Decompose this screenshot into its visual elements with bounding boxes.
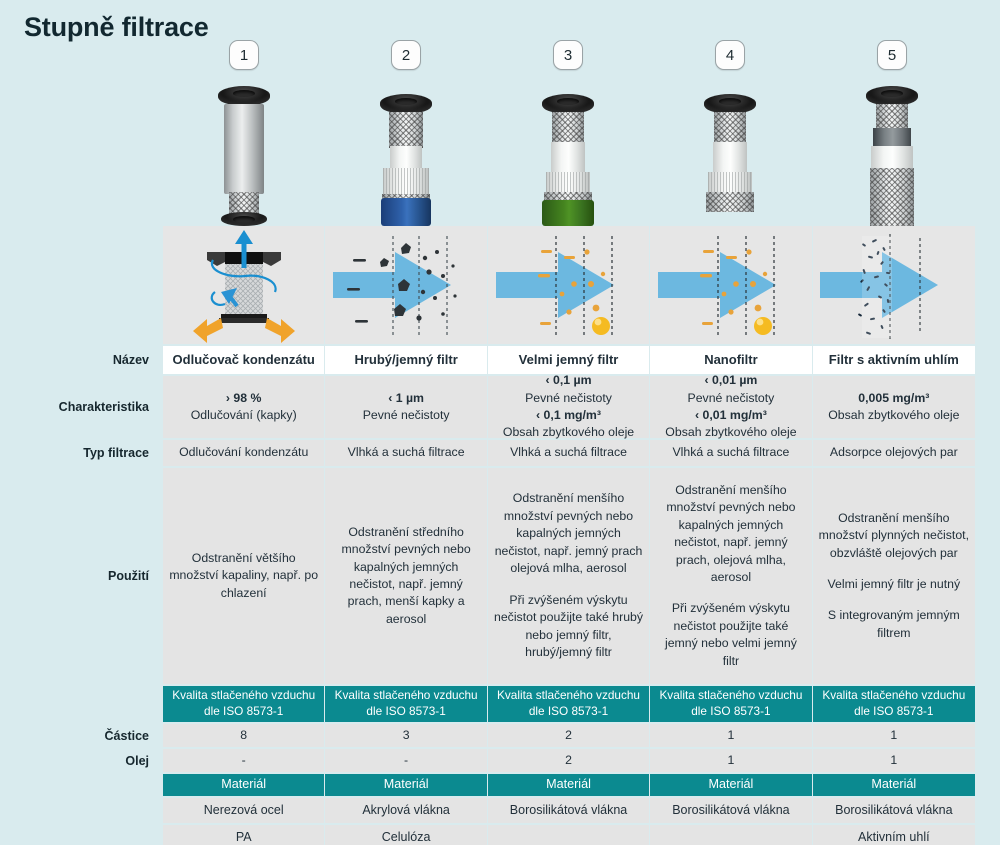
illustration-row-label [0,226,163,344]
name-cell-5: Filtr s aktivním uhlím [813,346,975,374]
usage-paragraph: Při zvýšeném výskytu nečistot použijte t… [656,600,805,670]
material-header-row-label [0,774,163,796]
element-base-3 [542,200,594,226]
material-header-cell-1: Materiál [163,774,324,796]
char-line: ‹ 1 µm [388,390,424,407]
condensate-separator-diagram [163,226,324,344]
row-label-name: Název [0,346,163,374]
illustration-row [0,226,1000,344]
usage-paragraph: Odstranění menšího množství plynných neč… [819,510,969,562]
material-cell-1-1: Nerezová ocel [163,798,324,823]
material-header-cell-4: Materiál [650,774,811,796]
filter-element-1: 1 [163,36,325,226]
row-label-oil: Olej [0,749,163,772]
coarse-fine-filter-diagram [325,226,486,344]
iso-header-cell-2: Kvalita stlačeného vzduchu dle ISO 8573-… [325,686,486,722]
characteristic-cell-4: ‹ 0,01 µm Pevné nečistoty ‹ 0,01 mg/m³ O… [650,376,811,438]
char-line: ‹ 0,01 µm [704,372,757,389]
element-drawing-3 [531,78,605,226]
iso-line-2: dle ISO 8573-1 [366,704,445,720]
very-fine-filter-diagram [488,226,649,344]
material-cell-2-1: Akrylová vlákna [325,798,486,823]
name-row: Název Odlučovač kondenzátu Hrubý/jemný f… [0,346,1000,374]
char-line: Pevné nečistoty [363,407,450,424]
material-cell-3-1: Borosilikátová vlákna [488,798,649,823]
oil-cell-4: 1 [650,749,811,772]
usage-cell-3: Odstranění menšího množství pevných nebo… [488,468,649,684]
char-line: ‹ 0,1 µm [545,372,591,389]
name-cell-3: Velmi jemný filtr [488,346,649,374]
iso-line-1: Kvalita stlačeného vzduchu [659,688,802,704]
material-row-2: PA Celulóza Aktivním uhlí [0,825,1000,845]
material-row-1: Nerezová ocel Akrylová vlákna Borosiliká… [0,798,1000,823]
iso-line-2: dle ISO 8573-1 [529,704,608,720]
filter-element-5: 5 [811,36,973,226]
char-line: Obsah zbytkového oleje [828,407,959,424]
row-label-characteristic: Charakteristika [0,376,163,438]
particles-row: Částice 8 3 2 1 1 [0,724,1000,747]
filter-type-cell-4: Vlhká a suchá filtrace [650,440,811,466]
material-row-2-label [0,825,163,845]
iso-line-1: Kvalita stlačeného vzduchu [335,688,478,704]
material-row-1-label [0,798,163,823]
oil-cell-3: 2 [488,749,649,772]
filter-type-cell-3: Vlhká a suchá filtrace [488,440,649,466]
material-cell-2-2: Celulóza [325,825,486,845]
usage-paragraph: S integrovaným jemným filtrem [819,607,969,642]
badge-number-4: 4 [715,40,745,70]
element-base-4 [704,200,756,226]
filter-type-row: Typ filtrace Odlučování kondenzátu Vlhká… [0,440,1000,466]
filter-element-3: 3 [487,36,649,226]
usage-paragraph: Velmi jemný filtr je nutný [828,576,961,593]
nanofilter-diagram [650,226,811,344]
filter-type-cell-1: Odlučování kondenzátu [163,440,324,466]
filter-element-4: 4 [649,36,811,226]
particles-cell-4: 1 [650,724,811,747]
row-label-particles: Částice [0,724,163,747]
iso-line-1: Kvalita stlačeného vzduchu [822,688,965,704]
material-cell-3-2 [488,825,649,845]
oil-row: Olej - - 2 1 1 [0,749,1000,772]
char-line: Odlučování (kapky) [191,407,297,424]
badge-number-5: 5 [877,40,907,70]
element-drawing-5 [855,78,929,226]
material-cell-5-1: Borosilikátová vlákna [813,798,975,823]
filter-type-cell-2: Vlhká a suchá filtrace [325,440,486,466]
usage-cell-1: Odstranění většího množství kapaliny, na… [163,468,324,684]
characteristic-row: Charakteristika › 98 % Odlučování (kapky… [0,376,1000,438]
usage-paragraph: Odstranění menšího množství pevných nebo… [494,490,643,577]
particles-cell-1: 8 [163,724,324,747]
filter-type-cell-5: Adsorpce olejových par [813,440,975,466]
usage-paragraph: Odstranění menšího množství pevných nebo… [656,482,805,587]
filter-element-photo-strip: 1 2 3 [163,36,975,226]
filtration-stages-infographic: Stupně filtrace 1 2 [0,0,1000,845]
element-drawing-1 [207,78,281,226]
badge-number-2: 2 [391,40,421,70]
char-line: › 98 % [226,390,262,407]
element-drawing-4 [693,78,767,226]
badge-number-3: 3 [553,40,583,70]
comparison-table: Název Odlučovač kondenzátu Hrubý/jemný f… [0,226,1000,845]
material-header-cell-3: Materiál [488,774,649,796]
oil-cell-5: 1 [813,749,975,772]
name-cell-4: Nanofiltr [650,346,811,374]
name-cell-1: Odlučovač kondenzátu [163,346,324,374]
material-header-cell-5: Materiál [813,774,975,796]
char-line: Pevné nečistoty [688,390,775,407]
usage-paragraph: Při zvýšeném výskytu nečistot použijte t… [494,592,643,662]
usage-cell-5: Odstranění menšího množství plynných neč… [813,468,975,684]
usage-paragraph: Odstranění středního množství pevných ne… [331,524,480,629]
element-drawing-2 [369,78,443,226]
element-base-2 [381,198,431,226]
particles-cell-2: 3 [325,724,486,747]
characteristic-cell-1: › 98 % Odlučování (kapky) [163,376,324,438]
iso-header-row-label [0,686,163,722]
badge-number-1: 1 [229,40,259,70]
particles-cell-3: 2 [488,724,649,747]
usage-cell-4: Odstranění menšího množství pevných nebo… [650,468,811,684]
iso-line-1: Kvalita stlačeného vzduchu [497,688,640,704]
iso-header-cell-4: Kvalita stlačeného vzduchu dle ISO 8573-… [650,686,811,722]
name-cell-2: Hrubý/jemný filtr [325,346,486,374]
row-label-filter-type: Typ filtrace [0,440,163,466]
material-header-row: Materiál Materiál Materiál Materiál Mate… [0,774,1000,796]
characteristic-cell-3: ‹ 0,1 µm Pevné nečistoty ‹ 0,1 mg/m³ Obs… [488,376,649,438]
iso-header-cell-1: Kvalita stlačeného vzduchu dle ISO 8573-… [163,686,324,722]
iso-line-2: dle ISO 8573-1 [691,704,770,720]
filter-element-2: 2 [325,36,487,226]
iso-line-2: dle ISO 8573-1 [854,704,933,720]
iso-header-cell-3: Kvalita stlačeného vzduchu dle ISO 8573-… [488,686,649,722]
activated-carbon-diagram [813,226,975,344]
characteristic-cell-2: ‹ 1 µm Pevné nečistoty [325,376,486,438]
char-line: ‹ 0,1 mg/m³ [536,407,601,424]
material-cell-1-2: PA [163,825,324,845]
row-label-usage: Použití [0,468,163,684]
oil-cell-1: - [163,749,324,772]
iso-header-row: Kvalita stlačeného vzduchu dle ISO 8573-… [0,686,1000,722]
material-cell-4-1: Borosilikátová vlákna [650,798,811,823]
char-line: ‹ 0,01 mg/m³ [695,407,767,424]
material-cell-5-2: Aktivním uhlí [813,825,975,845]
material-cell-4-2 [650,825,811,845]
char-line: 0,005 mg/m³ [858,390,929,407]
usage-cell-2: Odstranění středního množství pevných ne… [325,468,486,684]
char-line: Pevné nečistoty [525,390,612,407]
characteristic-cell-5: 0,005 mg/m³ Obsah zbytkového oleje [813,376,975,438]
usage-paragraph: Odstranění většího množství kapaliny, na… [169,550,318,602]
oil-cell-2: - [325,749,486,772]
iso-line-2: dle ISO 8573-1 [204,704,283,720]
usage-row: Použití Odstranění většího množství kapa… [0,468,1000,684]
particles-cell-5: 1 [813,724,975,747]
iso-header-cell-5: Kvalita stlačeného vzduchu dle ISO 8573-… [813,686,975,722]
iso-line-1: Kvalita stlačeného vzduchu [172,688,315,704]
particles-label-text: Částice [105,729,149,743]
material-header-cell-2: Materiál [325,774,486,796]
